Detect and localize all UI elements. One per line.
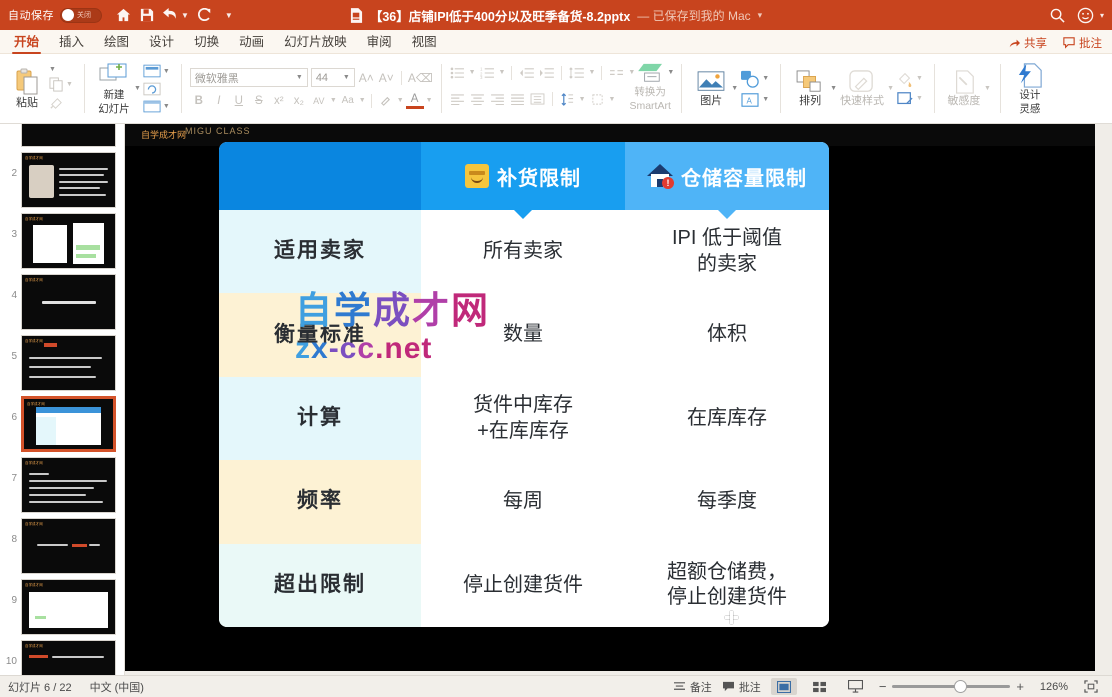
cell-measure-storage: 体积: [625, 293, 829, 376]
divider: [601, 66, 602, 80]
row-label-frequency: 频率: [219, 460, 421, 543]
text-direction-icon[interactable]: [559, 92, 576, 107]
columns-chevron-down-icon[interactable]: ▼: [628, 69, 635, 76]
share-button[interactable]: 共享: [1008, 35, 1047, 51]
paste-chevron-down-icon[interactable]: ▼: [49, 66, 56, 73]
thumbnail-tag: 自学成才网: [25, 338, 43, 343]
font-size-value: 44: [316, 72, 343, 84]
thumbnail-number: 4: [4, 274, 17, 301]
thumbnail-row[interactable]: 5 自学成才网: [0, 330, 124, 391]
table-header-label-restock: 补货限制: [497, 162, 581, 191]
format-painter-icon: [49, 96, 64, 111]
slide-sorter-view-button[interactable]: [807, 678, 833, 695]
new-slide-icon: [99, 62, 129, 88]
paste-icon: [14, 68, 40, 96]
thumbnail-row[interactable]: 2 自学成才网: [0, 147, 124, 208]
ribbon-tab-bar: 开始 插入 绘图 设计 切换 动画 幻灯片放映 审阅 视图 共享 批注: [0, 30, 1112, 54]
ribbon: 粘贴 ▼ ▼: [0, 54, 1112, 124]
slide-thumbnail-6-selected[interactable]: 自学成才网: [21, 396, 116, 452]
paragraph-row-bottom: ▼ ▼ 转换为 SmartArt: [449, 86, 675, 111]
zoom-slider[interactable]: − +: [879, 679, 1024, 694]
search-icon[interactable]: [1050, 8, 1065, 23]
mouse-cursor: [725, 611, 738, 624]
ribbon-group-paragraph: ▼ 123 ▼ ▼: [444, 54, 680, 123]
autosave-label: 自动保存: [8, 7, 54, 23]
thumbnail-number: 5: [4, 335, 17, 362]
divider: [371, 94, 372, 108]
paragraph-row-top: ▼ 123 ▼ ▼: [449, 65, 675, 80]
font-size-chevron-down-icon[interactable]: ▼: [343, 74, 350, 81]
sensitivity-button[interactable]: 敏感度: [944, 70, 984, 108]
notes-icon: [673, 681, 686, 692]
align-text-icon[interactable]: [589, 92, 606, 107]
warehouse-icon: !: [647, 164, 673, 188]
quick-styles-label: 快速样式: [840, 95, 884, 108]
document-menu-chevron-down-icon[interactable]: ▾: [758, 10, 763, 21]
normal-view-button[interactable]: [771, 678, 797, 695]
svg-text:3: 3: [480, 75, 483, 79]
decrease-font-size-icon[interactable]: A˅: [378, 71, 395, 85]
tab-transitions[interactable]: 切换: [184, 29, 229, 53]
reset-button[interactable]: [143, 82, 170, 96]
shape-outline-chevron-down-icon[interactable]: ▼: [916, 95, 923, 102]
tab-draw[interactable]: 绘图: [94, 29, 139, 53]
thumbnail-tag: 自学成才网: [25, 521, 43, 526]
cell-exceed-limit-restock: 停止创建货件: [421, 544, 625, 627]
comments-status-label: 批注: [739, 679, 761, 695]
align-left-icon[interactable]: [449, 92, 466, 107]
change-case-button[interactable]: Aa: [339, 92, 357, 109]
thumbnail-number: 9: [4, 579, 17, 606]
slide-thumbnail-1[interactable]: [21, 124, 116, 147]
zoom-knob[interactable]: [954, 680, 967, 693]
thumbnail-tag: 自学成才网: [25, 460, 43, 465]
thumbnail-row[interactable]: 6 自学成才网: [0, 391, 124, 452]
clipboard-mini-buttons: ▼ ▼: [47, 66, 75, 111]
slide-thumbnail-pane[interactable]: 1 2 自学成才网: [0, 124, 125, 675]
font-name-chevron-down-icon[interactable]: ▼: [296, 74, 303, 81]
ribbon-group-insert: 图片 ▼ ▼ A ▼: [684, 54, 778, 123]
undo-dropdown-chevron-down-icon[interactable]: ▼: [181, 11, 189, 20]
shapes-icon: [740, 70, 760, 88]
share-label: 共享: [1024, 35, 1047, 51]
autosave-toggle[interactable]: 关闭: [60, 8, 102, 23]
tab-insert[interactable]: 插入: [49, 29, 94, 53]
ribbon-tabs: 开始 插入 绘图 设计 切换 动画 幻灯片放映 审阅 视图: [0, 29, 447, 53]
line-spacing-icon[interactable]: [568, 65, 585, 80]
zoom-out-button[interactable]: −: [879, 679, 887, 694]
tab-review[interactable]: 审阅: [357, 29, 402, 53]
header-arrow-storage: [718, 210, 736, 219]
new-slide-button[interactable]: 新建 幻灯片: [94, 62, 134, 114]
row-label-measure: 衡量标准: [219, 293, 421, 376]
layout-chevron-down-icon[interactable]: ▼: [163, 68, 170, 75]
change-case-chevron-down-icon[interactable]: ▼: [359, 97, 366, 104]
reset-slide-icon: [143, 82, 161, 96]
increase-font-size-icon[interactable]: A˄: [358, 71, 375, 85]
ribbon-separator: [681, 64, 682, 113]
superscript-button[interactable]: x²: [270, 92, 288, 109]
drawing-mini-buttons: ▼ ▼: [894, 71, 925, 107]
ribbon-group-designer: 设计 灵感: [1003, 54, 1057, 123]
notes-label: 备注: [690, 679, 712, 695]
sensitivity-chevron-down-icon[interactable]: ▼: [984, 85, 991, 92]
table-header-cell-storage: ! 仓储容量限制: [625, 142, 829, 210]
account-smiley-icon[interactable]: [1077, 7, 1094, 24]
ribbon-group-font: 微软雅黑 ▼ 44 ▼ A˄ A˅ A⌫ B I U S x² x₂ AV: [184, 54, 439, 123]
table-header-cell-blank: [219, 142, 421, 210]
columns-icon[interactable]: [608, 65, 625, 80]
thumbnail-number: 3: [4, 213, 17, 240]
font-name-value: 微软雅黑: [195, 70, 296, 86]
line-spacing-chevron-down-icon[interactable]: ▼: [588, 69, 595, 76]
ribbon-separator: [181, 64, 182, 113]
numbering-chevron-down-icon[interactable]: ▼: [499, 69, 506, 76]
thumbnail-row[interactable]: 9 自学成才网: [0, 574, 124, 635]
comparison-table[interactable]: 补货限制 ! 仓储容量限制: [219, 142, 829, 627]
paste-options-row[interactable]: ▼: [49, 66, 73, 73]
tab-view[interactable]: 视图: [402, 29, 447, 53]
comments-status-button[interactable]: 批注: [722, 679, 761, 695]
ribbon-separator: [84, 64, 85, 113]
slide-thumbnail-8[interactable]: 自学成才网: [21, 518, 116, 574]
shapes-button[interactable]: ▼: [740, 70, 769, 88]
arrange-label: 排列: [799, 95, 821, 108]
slide-thumbnail-2[interactable]: 自学成才网: [21, 152, 116, 208]
increase-indent-icon[interactable]: [538, 65, 555, 80]
shape-outline-button[interactable]: ▼: [896, 91, 923, 107]
text-box-chevron-down-icon[interactable]: ▼: [762, 96, 769, 103]
table-row[interactable]: 计算 货件中库存 +在库库存 在库库存: [219, 377, 829, 460]
copy-button[interactable]: ▼: [49, 77, 73, 92]
slide-surface[interactable]: 自学成才网 MIGU CLASS 补货限制: [125, 124, 1095, 671]
notes-button[interactable]: 备注: [673, 679, 712, 695]
cell-measure-restock: 数量: [421, 293, 625, 376]
svg-text:A: A: [747, 96, 753, 105]
shape-outline-icon: [896, 91, 914, 107]
table-row[interactable]: 适用卖家 所有卖家 IPI 低于阈值 的卖家: [219, 210, 829, 293]
design-ideas-label-line2: 灵感: [1019, 103, 1040, 115]
design-ideas-label-line1: 设计: [1019, 89, 1040, 101]
presentation-file-icon: [350, 8, 363, 23]
powerpoint-window: 自动保存 关闭 ▼ ▼ 【36】: [0, 0, 1112, 697]
thumbnail-number: 2: [4, 152, 17, 179]
language-indicator[interactable]: 中文 (中国): [90, 679, 144, 695]
sensitivity-label: 敏感度: [947, 95, 980, 108]
shape-fill-chevron-down-icon[interactable]: ▼: [916, 75, 923, 82]
align-center-icon[interactable]: [469, 92, 486, 107]
thumbnail-tag: 自学成才网: [25, 643, 43, 648]
font-row-top: 微软雅黑 ▼ 44 ▼ A˄ A˅ A⌫: [190, 68, 433, 87]
cell-frequency-storage: 每季度: [625, 460, 829, 543]
slide-thumbnail-7[interactable]: 自学成才网: [21, 457, 116, 513]
slide-thumbnail-9[interactable]: 自学成才网: [21, 579, 116, 635]
paste-label: 粘贴: [16, 97, 38, 110]
account-chevron-down-icon[interactable]: ▾: [1100, 11, 1104, 20]
table-header-label-storage: 仓储容量限制: [681, 162, 807, 191]
distribute-text-icon[interactable]: [529, 92, 546, 107]
font-row-bottom: B I U S x² x₂ AV ▼ Aa ▼ ▼ A ▼: [190, 92, 433, 109]
tab-slideshow[interactable]: 幻灯片放映: [274, 29, 357, 53]
ribbon-separator: [441, 64, 442, 113]
autosave-state-label: 关闭: [77, 10, 91, 20]
tab-home[interactable]: 开始: [4, 29, 49, 53]
quick-styles-button[interactable]: 快速样式: [837, 70, 887, 108]
comment-icon: [1063, 37, 1075, 49]
slide-content: 自学成才网 MIGU CLASS 补货限制: [125, 124, 1095, 671]
thumbnail-scroll: 1 2 自学成才网: [0, 124, 124, 675]
table-body: 适用卖家 所有卖家 IPI 低于阈值 的卖家 衡量标准 数量 体积 计算: [219, 210, 829, 627]
paste-button[interactable]: 粘贴: [7, 68, 47, 110]
smartart-chevron-down-icon[interactable]: ▼: [667, 69, 674, 76]
row-label-applicable-sellers: 适用卖家: [219, 210, 421, 293]
arrange-chevron-down-icon[interactable]: ▼: [830, 85, 837, 92]
font-name-input[interactable]: 微软雅黑 ▼: [190, 68, 308, 87]
quick-access-toolbar: ▼ ▼: [116, 8, 233, 22]
bullets-chevron-down-icon[interactable]: ▼: [469, 69, 476, 76]
slide-layout-icon: [143, 64, 161, 78]
insert-mini-buttons: ▼ A ▼: [738, 70, 771, 108]
ribbon-separator: [780, 64, 781, 113]
smartart-label-line1: 转换为: [634, 86, 666, 98]
shape-fill-button[interactable]: ▼: [896, 71, 923, 87]
arrange-button[interactable]: 排列: [790, 70, 830, 108]
status-bar: 幻灯片 6 / 22 中文 (中国) 备注 批注: [0, 675, 1112, 697]
qat-customize-chevron-down-icon[interactable]: ▼: [225, 11, 233, 20]
font-size-input[interactable]: 44 ▼: [311, 68, 355, 87]
divider: [561, 66, 562, 80]
zoom-track[interactable]: [892, 685, 1010, 688]
new-slide-chevron-down-icon[interactable]: ▼: [134, 85, 141, 92]
comments-label: 批注: [1079, 35, 1102, 51]
slide-thumbnail-10[interactable]: 自学成才网: [21, 640, 116, 675]
ribbon-separator: [934, 64, 935, 113]
table-row[interactable]: 频率 每周 每季度: [219, 460, 829, 543]
thumbnail-number: 8: [4, 518, 17, 545]
decrease-indent-icon[interactable]: [518, 65, 535, 80]
divider: [401, 71, 402, 85]
undo-icon[interactable]: [163, 8, 178, 22]
thumbnail-tag: 自学成才网: [27, 401, 45, 406]
cell-calculation-storage: 在库库存: [625, 377, 829, 460]
thumbnail-row[interactable]: 7 自学成才网: [0, 452, 124, 513]
shapes-chevron-down-icon[interactable]: ▼: [762, 75, 769, 82]
title-bar-right-controls: ▾: [1050, 7, 1104, 24]
cell-calculation-restock: 货件中库存 +在库库存: [421, 377, 625, 460]
fit-to-window-button[interactable]: [1078, 678, 1104, 695]
ribbon-group-sensitivity: 敏感度 ▼: [937, 54, 998, 123]
subscript-button[interactable]: x₂: [290, 92, 308, 109]
comment-bubble-icon: [722, 681, 735, 692]
divider: [511, 66, 512, 80]
text-box-button[interactable]: A ▼: [740, 92, 769, 108]
text-box-icon: A: [740, 92, 760, 108]
comments-button[interactable]: 批注: [1063, 35, 1102, 51]
strikethrough-button[interactable]: S: [250, 92, 268, 109]
format-painter-button[interactable]: [49, 96, 73, 111]
slide-canvas-pane[interactable]: 自学成才网 MIGU CLASS 补货限制: [125, 124, 1112, 675]
picture-icon: [697, 70, 725, 94]
row-label-exceed-limit: 超出限制: [219, 544, 421, 627]
zoom-in-button[interactable]: +: [1016, 679, 1024, 694]
convert-to-smartart-button[interactable]: 转换为 SmartArt: [626, 86, 673, 111]
text-direction-chevron-down-icon[interactable]: ▼: [579, 96, 586, 103]
align-text-chevron-down-icon[interactable]: ▼: [609, 96, 616, 103]
arrange-icon: [796, 70, 824, 94]
picture-button[interactable]: 图片: [691, 70, 731, 108]
slide-thumbnail-4[interactable]: 自学成才网: [21, 274, 116, 330]
tab-animations[interactable]: 动画: [229, 29, 274, 53]
thumbnail-number: 10: [4, 640, 17, 667]
redo-icon[interactable]: [198, 8, 212, 22]
font-color-button[interactable]: A: [406, 93, 424, 109]
quick-styles-chevron-down-icon[interactable]: ▼: [887, 85, 894, 92]
title-bar: 自动保存 关闭 ▼ ▼ 【36】: [0, 0, 1112, 30]
highlight-chevron-down-icon[interactable]: ▼: [397, 97, 404, 104]
slide-mini-buttons: ▼ ▼: [141, 64, 172, 113]
bullets-icon[interactable]: [449, 65, 466, 80]
cell-applicable-sellers-storage: IPI 低于阈值 的卖家: [625, 210, 829, 293]
copy-icon: [49, 77, 64, 92]
quick-styles-icon: [849, 70, 875, 94]
character-spacing-chevron-down-icon[interactable]: ▼: [330, 97, 337, 104]
picture-chevron-down-icon[interactable]: ▼: [731, 85, 738, 92]
thumbnail-tag: 自学成才网: [25, 277, 43, 282]
justify-icon[interactable]: [509, 92, 526, 107]
align-right-icon[interactable]: [489, 92, 506, 107]
sensitivity-icon: [951, 70, 977, 94]
thumbnail-tag: 自学成才网: [25, 155, 43, 160]
section-chevron-down-icon[interactable]: ▼: [163, 103, 170, 110]
cell-frequency-restock: 每周: [421, 460, 625, 543]
share-icon: [1008, 37, 1020, 49]
thumbnail-number: 7: [4, 457, 17, 484]
picture-label: 图片: [700, 95, 722, 108]
slide-logo-text: MIGU CLASS: [185, 126, 251, 136]
save-icon[interactable]: [140, 8, 154, 22]
numbering-icon[interactable]: 123: [479, 65, 496, 80]
autosave-toggle-knob: [62, 9, 74, 21]
ribbon-separator: [1000, 64, 1001, 113]
thumbnail-row[interactable]: 3 自学成才网: [0, 208, 124, 269]
layout-button[interactable]: ▼: [143, 64, 170, 78]
document-save-status: — 已保存到我的 Mac: [637, 7, 750, 24]
main-area: 1 2 自学成才网: [0, 124, 1112, 675]
document-title[interactable]: 【36】店铺IPI低于400分以及旺季备货-8.2pptx: [370, 6, 630, 25]
slide-counter[interactable]: 幻灯片 6 / 22: [8, 679, 72, 695]
italic-button[interactable]: I: [210, 92, 228, 109]
new-slide-label-line1: 新建: [103, 89, 124, 101]
character-spacing-button[interactable]: AV: [310, 92, 328, 109]
table-row[interactable]: 衡量标准 数量 体积: [219, 293, 829, 376]
status-bar-right: 备注 批注 − +: [673, 678, 1104, 695]
home-icon[interactable]: [116, 8, 131, 22]
slide-section-icon: [143, 100, 161, 113]
thumbnail-row[interactable]: 4 自学成才网: [0, 269, 124, 330]
design-ideas-button[interactable]: 设计 灵感: [1010, 62, 1050, 114]
bold-button[interactable]: B: [190, 92, 208, 109]
thumbnail-row[interactable]: 10 自学成才网: [0, 635, 124, 675]
ribbon-group-slides: 新建 幻灯片 ▼ ▼: [87, 54, 179, 123]
table-header-row: 补货限制 ! 仓储容量限制: [219, 142, 829, 210]
copy-chevron-down-icon[interactable]: ▼: [66, 81, 73, 88]
autosave-control[interactable]: 自动保存 关闭: [8, 7, 102, 23]
shape-fill-icon: [896, 71, 914, 87]
thumbnail-row[interactable]: 1: [0, 124, 124, 147]
thumbnail-number: 6: [4, 396, 17, 423]
slideshow-view-button[interactable]: [843, 678, 869, 695]
underline-button[interactable]: U: [230, 92, 248, 109]
text-highlight-icon[interactable]: [377, 92, 395, 109]
slide-thumbnail-3[interactable]: 自学成才网: [21, 213, 116, 269]
new-slide-label-line2: 幻灯片: [98, 103, 130, 115]
table-header-cell-restock: 补货限制: [421, 142, 625, 210]
cell-applicable-sellers-restock: 所有卖家: [421, 210, 625, 293]
slide-thumbnail-5[interactable]: 自学成才网: [21, 335, 116, 391]
ribbon-group-clipboard: 粘贴 ▼ ▼: [0, 54, 82, 123]
thumbnail-row[interactable]: 8 自学成才网: [0, 513, 124, 574]
design-ideas-icon: [1017, 62, 1043, 88]
slide-watermark-tag: 自学成才网: [141, 128, 186, 141]
ribbon-right-actions: 共享 批注: [1008, 35, 1112, 53]
smartart-label-line2: SmartArt: [629, 100, 670, 112]
divider: [552, 92, 553, 106]
smartart-icon[interactable]: [638, 65, 664, 80]
zoom-percent-label[interactable]: 126%: [1034, 681, 1068, 693]
clear-formatting-icon[interactable]: A⌫: [408, 71, 425, 85]
tab-design[interactable]: 设计: [139, 29, 184, 53]
ribbon-group-drawing: 排列 ▼ 快速样式 ▼ ▼: [783, 54, 932, 123]
header-arrow-restock: [514, 210, 532, 219]
section-button[interactable]: ▼: [143, 100, 170, 113]
row-label-calculation: 计算: [219, 377, 421, 460]
font-color-chevron-down-icon[interactable]: ▼: [426, 97, 433, 104]
package-icon: [465, 164, 489, 188]
thumbnail-tag: 自学成才网: [25, 216, 43, 221]
thumbnail-tag: 自学成才网: [25, 582, 43, 587]
